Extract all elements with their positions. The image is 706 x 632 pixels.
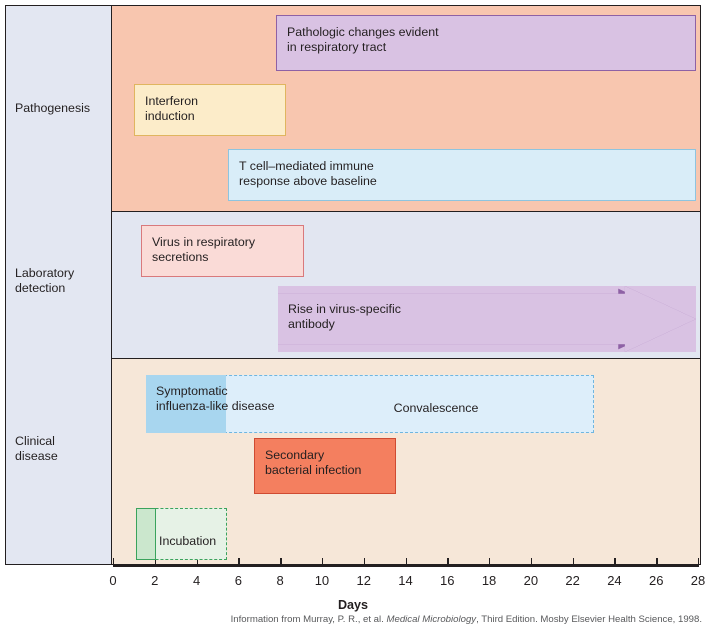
- category-sidebar: Pathogenesis Laboratory detection Clinic…: [6, 6, 112, 564]
- axis-tick-label: 8: [277, 573, 284, 588]
- event-box-virus-in-respiratory-secretions: Virus in respiratory secretions: [141, 225, 304, 277]
- axis-tick: [322, 558, 323, 567]
- axis-tick: [447, 558, 448, 567]
- axis-tick: [656, 558, 657, 567]
- axis-tick-label: 6: [235, 573, 242, 588]
- axis-tick-label: 4: [193, 573, 200, 588]
- event-label: Interferon induction: [145, 94, 285, 124]
- event-arrow-rise-in-antibody: Rise in virus-specific antibody: [278, 286, 696, 352]
- event-box-incubation-onset: [136, 508, 156, 560]
- event-label: Symptomatic influenza-like disease: [156, 384, 416, 414]
- axis-tick-label: 16: [440, 573, 454, 588]
- axis-tick-label: 22: [565, 573, 579, 588]
- axis-tick: [698, 558, 699, 567]
- axis-tick-label: 28: [691, 573, 705, 588]
- caption-post: , Third Edition. Mosby Elsevier Health S…: [476, 614, 702, 625]
- axis-tick: [614, 558, 615, 567]
- event-label: Virus in respiratory secretions: [152, 235, 303, 265]
- sidebar-item-pathogenesis: Pathogenesis: [15, 101, 111, 116]
- axis-tick: [531, 558, 532, 567]
- axis-tick: [573, 558, 574, 567]
- event-box-t-cell-mediated-immune-response: T cell–mediated immune response above ba…: [228, 149, 696, 201]
- axis-tick-label: 0: [109, 573, 116, 588]
- axis-tick-label: 14: [398, 573, 412, 588]
- event-box-pathologic-changes: Pathologic changes evident in respirator…: [276, 15, 696, 71]
- caption-italic-title: Medical Microbiology: [387, 614, 477, 625]
- axis-tick: [489, 558, 490, 567]
- sidebar-item-clinical-disease: Clinical disease: [15, 434, 111, 464]
- axis-tick-label: 20: [524, 573, 538, 588]
- event-box-interferon-induction: Interferon induction: [134, 84, 286, 136]
- event-box-symptomatic-influenza-like-disease: Symptomatic influenza-like disease: [146, 375, 226, 433]
- axis-title: Days: [0, 598, 706, 612]
- axis-tick-label: 12: [356, 573, 370, 588]
- event-label: T cell–mediated immune response above ba…: [239, 159, 695, 189]
- axis-tick: [364, 558, 365, 567]
- axis-tick-label: 2: [151, 573, 158, 588]
- chart-frame: Pathogenesis Laboratory detection Clinic…: [5, 5, 701, 565]
- event-box-secondary-bacterial-infection: Secondary bacterial infection: [254, 438, 396, 494]
- event-label: Rise in virus-specific antibody: [278, 286, 696, 332]
- axis-tick: [406, 558, 407, 567]
- event-label: Pathologic changes evident in respirator…: [287, 25, 695, 55]
- source-caption: Information from Murray, P. R., et al. M…: [0, 614, 706, 625]
- axis-tick-label: 26: [649, 573, 663, 588]
- axis-tick-label: 10: [315, 573, 329, 588]
- event-label: Secondary bacterial infection: [265, 448, 395, 478]
- sidebar-item-laboratory-detection: Laboratory detection: [15, 266, 111, 296]
- axis-tick: [113, 558, 114, 567]
- axis-tick-label: 24: [607, 573, 621, 588]
- axis-tick: [238, 558, 239, 567]
- caption-pre: Information from Murray, P. R., et al.: [231, 614, 387, 625]
- axis-tick-label: 18: [482, 573, 496, 588]
- event-label: Incubation: [147, 518, 226, 549]
- axis-tick: [280, 558, 281, 567]
- influenza-timeline-figure: Pathogenesis Laboratory detection Clinic…: [0, 0, 706, 632]
